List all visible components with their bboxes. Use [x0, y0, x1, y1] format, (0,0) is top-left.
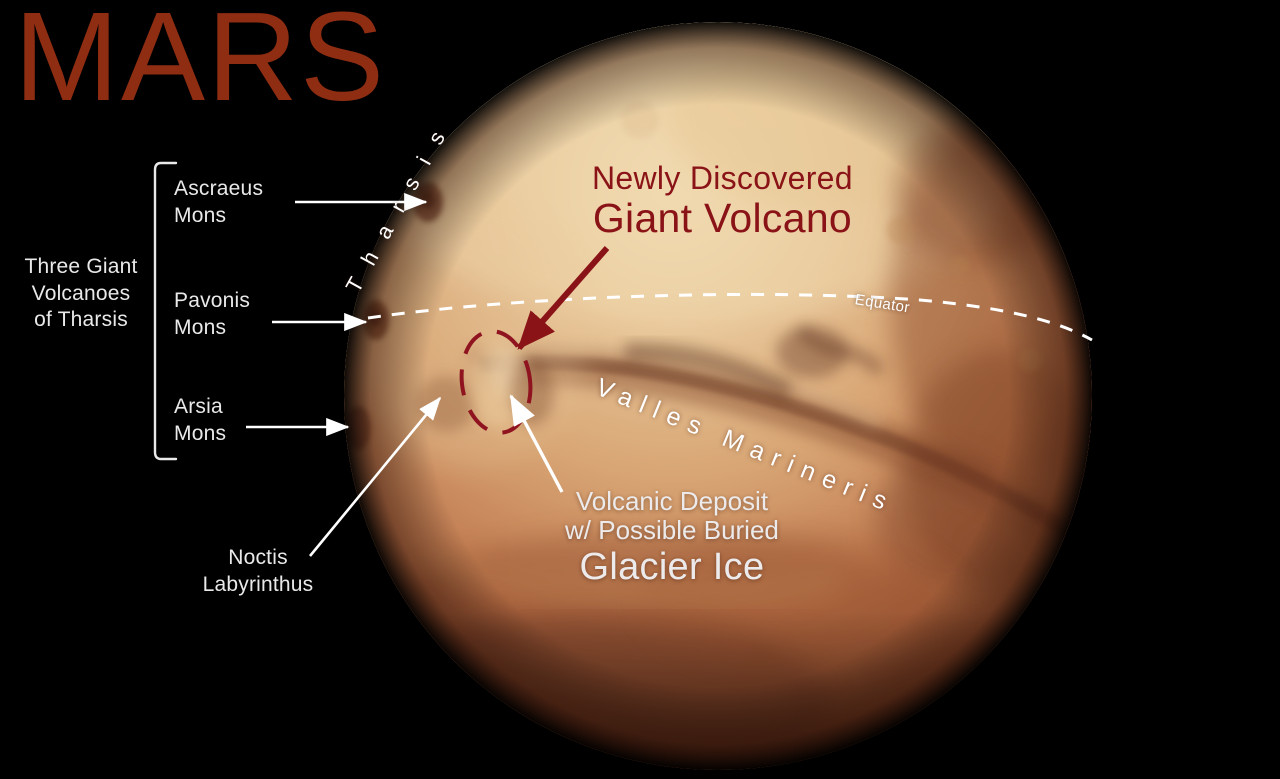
label-noctis-labyrinthus: Noctis Labyrinthus: [183, 545, 333, 598]
page-title: MARS: [14, 0, 386, 120]
three-giant-volcanoes-label: Three Giant Volcanoes of Tharsis: [6, 254, 156, 334]
headline-new-volcano: Newly Discovered Giant Volcano: [592, 162, 853, 240]
label-pavonis-mons: Pavonis Mons: [174, 288, 250, 341]
caption-line-2: w/ Possible Buried: [565, 516, 779, 545]
caption-line-3: Glacier Ice: [565, 546, 779, 589]
caption-glacier-ice: Volcanic Deposit w/ Possible Buried Glac…: [565, 487, 779, 589]
mars-annotated-image: MARS Three Giant Volcanoes of Tharsis As…: [0, 0, 1280, 779]
label-ascraeus-mons: Ascraeus Mons: [174, 176, 263, 229]
caption-line-1: Volcanic Deposit: [565, 487, 779, 516]
label-arsia-mons: Arsia Mons: [174, 394, 226, 447]
headline-line-2: Giant Volcano: [592, 197, 853, 240]
headline-line-1: Newly Discovered: [592, 162, 853, 195]
